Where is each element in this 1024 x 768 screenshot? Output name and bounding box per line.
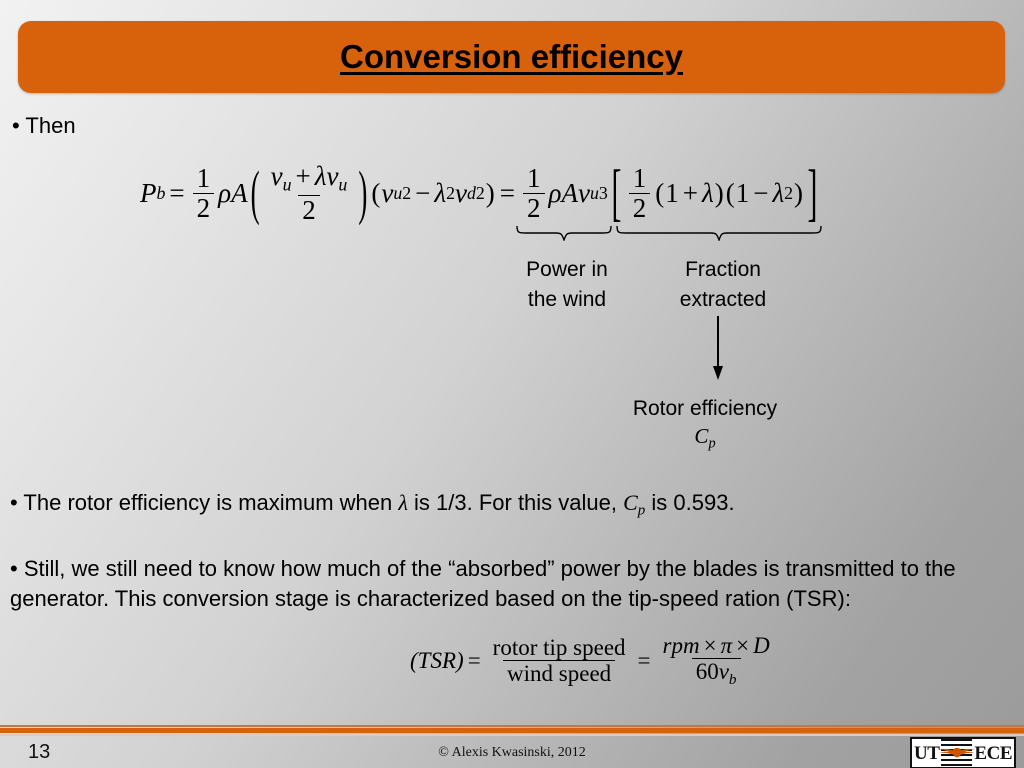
tsr-paren-close: ) [456, 648, 464, 674]
eq-half-2: 1 2 [523, 165, 545, 223]
eq-inner-lambda: λ [315, 161, 327, 191]
annotation-fraction-line-2: extracted [640, 285, 806, 315]
tsr-denominator-2: 60vb [692, 658, 741, 687]
eq-g-vu-sub: u [393, 183, 402, 204]
eq-g-vu: v [381, 178, 393, 209]
tsr-times-2: × [732, 633, 753, 658]
eq-area-A: A [231, 178, 248, 209]
tsr-fraction-speed: rotor tip speed wind speed [489, 636, 630, 686]
arrow-down-icon [710, 316, 726, 382]
eq-half-3: 1 2 [629, 165, 651, 223]
underbrace-fraction-extracted [616, 225, 822, 241]
eq-half-2-num: 1 [523, 165, 545, 194]
tsr-pi: π [721, 633, 733, 658]
eq-rho: ρ [218, 178, 231, 209]
bullet-then: • Then [12, 111, 76, 141]
tsr-rpm: rpm [663, 633, 700, 658]
eq-group-close: ) [485, 178, 496, 209]
annotation-power-in-the-wind: Power in the wind [494, 255, 640, 315]
eq-lhs-sub-b: b [157, 183, 166, 204]
eq-vel-num: vu+λvu [267, 163, 352, 195]
eq-half-3-den: 2 [629, 193, 651, 223]
para1-lambda: λ [398, 490, 408, 515]
eq-lhs-P: P [140, 178, 157, 209]
eq-half-1-num: 1 [193, 165, 215, 194]
para1-part3: is 0.593. [645, 490, 734, 515]
tsr-vb-sub: b [729, 671, 737, 688]
eq-t1-lambda: λ [702, 178, 714, 209]
eq-r-v: v [578, 178, 590, 209]
ut-ece-logo: UT ECE [910, 737, 1016, 768]
eq-half-1-den: 2 [193, 193, 215, 223]
page-title: Conversion efficiency [340, 38, 683, 76]
tsr-equation: (TSR) = rotor tip speed wind speed = rpm… [410, 634, 778, 688]
eq-vu-1-sub: u [283, 175, 292, 195]
tsr-vb: v [719, 659, 729, 684]
eq-r-rho: ρ [549, 178, 562, 209]
footer-rule-accent [0, 728, 1024, 733]
annotation-cp-symbol: Cp [600, 424, 810, 452]
tsr-numerator-1: rotor tip speed [489, 636, 630, 660]
eq-r-A: A [561, 178, 578, 209]
tsr-times-1: × [700, 633, 721, 658]
paragraph-rotor-efficiency-max: • The rotor efficiency is maximum when λ… [10, 488, 1010, 525]
eq-t1-open: ( [654, 178, 665, 209]
eq-t2-minus: − [749, 178, 772, 209]
eq-half-1: 1 2 [193, 165, 215, 223]
eq-velocity-average-fraction: vu+λvu 2 [267, 163, 352, 224]
eq-g-vd: v [455, 178, 467, 209]
eq-group-open: ( [370, 178, 381, 209]
cp-letter: C [694, 424, 708, 448]
tsr-numerator-2: rpm×π×D [659, 634, 774, 658]
eq-t2-one: 1 [736, 178, 750, 209]
tsr-paren-open: ( [410, 648, 418, 674]
eq-t1-plus: + [679, 178, 702, 209]
eq-g-lambda: λ [434, 178, 446, 209]
eq-vel-den: 2 [298, 195, 320, 225]
tsr-sixty: 60 [696, 659, 719, 684]
eq-equals-1: = [165, 178, 188, 209]
annotation-fraction-extracted: Fraction extracted [640, 255, 806, 315]
eq-t1-one: 1 [665, 178, 679, 209]
para1-part2: is 1/3. For this value, [408, 490, 623, 515]
eq-inner-plus: + [292, 161, 315, 191]
eq-g-vd-sup: 2 [476, 183, 485, 204]
eq-g-vu-sup: 2 [402, 183, 411, 204]
slide-canvas: Conversion efficiency • Then Pb = 1 2 ρ … [0, 0, 1024, 768]
tsr-diameter-D: D [753, 633, 770, 658]
underbrace-power-in-wind [516, 225, 612, 241]
longhorn-icon [935, 744, 979, 762]
eq-t2-lambda-sup: 2 [784, 183, 793, 204]
eq-r-v-sub: u [590, 183, 599, 204]
eq-paren-open: ( [248, 159, 263, 229]
eq-t2-open: ( [725, 178, 736, 209]
copyright-notice: © Alexis Kwasinski, 2012 [0, 745, 1024, 761]
tsr-denominator-1: wind speed [503, 660, 615, 685]
para1-part1: • The rotor efficiency is maximum when [10, 490, 398, 515]
eq-half-3-num: 1 [629, 165, 651, 194]
eq-paren-close: ) [355, 159, 370, 229]
eq-g-minus: − [411, 178, 434, 209]
eq-equals-2: = [496, 178, 519, 209]
annotation-fraction-line-1: Fraction [640, 255, 806, 285]
slide-title-bar: Conversion efficiency [18, 21, 1005, 93]
eq-g-vd-sub: d [467, 183, 476, 204]
logo-stripes [941, 739, 972, 767]
paragraph-tsr-intro: • Still, we still need to know how much … [10, 554, 1012, 614]
eq-vu-1: v [271, 161, 283, 191]
annotation-power-line-2: the wind [494, 285, 640, 315]
eq-t1-close: ) [714, 178, 725, 209]
slide-footer: 13 © Alexis Kwasinski, 2012 UT ECE [0, 736, 1024, 768]
annotation-rotor-efficiency: Rotor efficiency [600, 394, 810, 424]
eq-bracket-open: [ [607, 157, 626, 230]
eq-half-2-den: 2 [523, 193, 545, 223]
tsr-fraction-rpm: rpm×π×D 60vb [659, 634, 774, 688]
eq-bracket-close: ] [803, 157, 822, 230]
cp-subscript: p [708, 435, 715, 451]
tsr-equals-2: = [634, 648, 655, 674]
main-power-equation: Pb = 1 2 ρ A ( vu+λvu 2 ) (vu2−λ2vd2) = … [140, 163, 821, 224]
tsr-label: TSR [418, 648, 456, 674]
eq-vu-2-sub: u [338, 175, 347, 195]
eq-vu-2: v [326, 161, 338, 191]
eq-t2-lambda: λ [772, 178, 784, 209]
tsr-equals-1: = [464, 648, 485, 674]
footer-rule-top [0, 725, 1024, 727]
para1-cp: C [623, 490, 638, 515]
eq-g-lambda-sup: 2 [446, 183, 455, 204]
annotation-power-line-1: Power in [494, 255, 640, 285]
